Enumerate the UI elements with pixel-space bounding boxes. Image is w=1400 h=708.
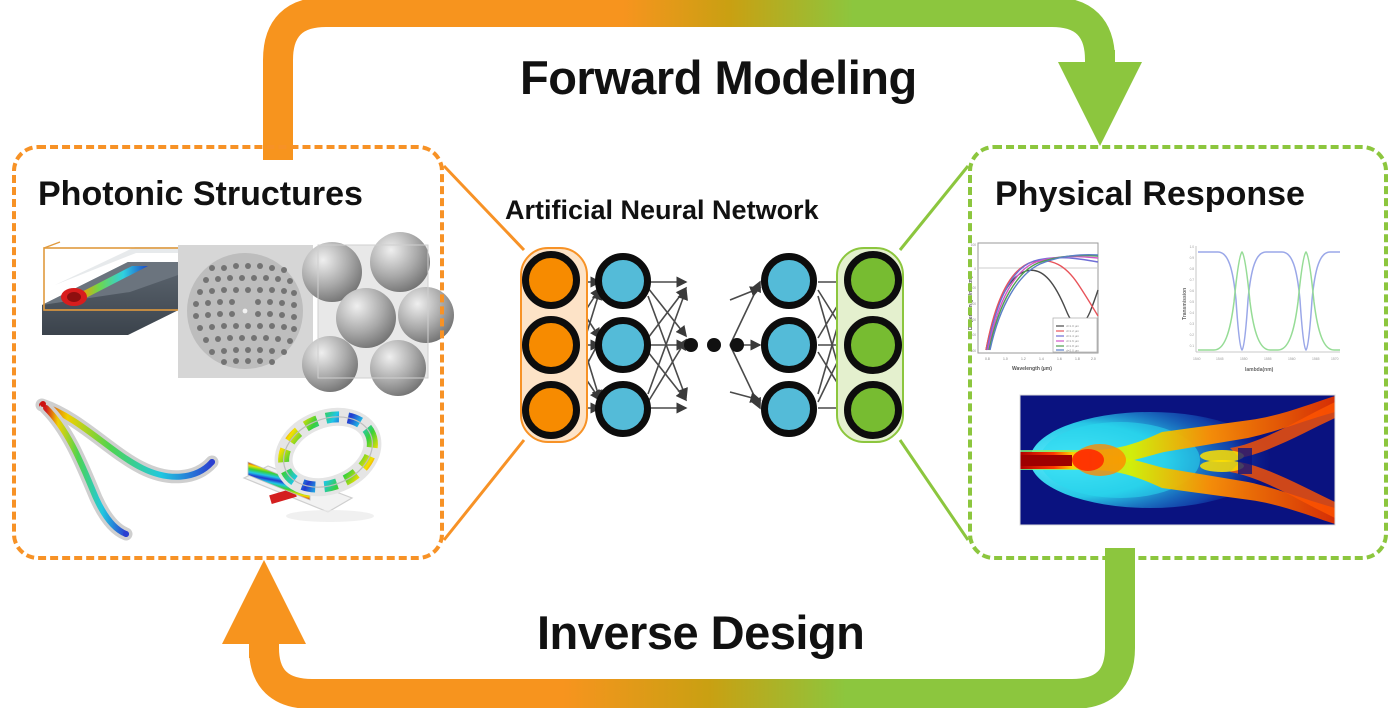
physical-response-title: Physical Response (995, 175, 1305, 214)
output-to-physical-connector (900, 166, 968, 540)
input-node-3[interactable] (522, 381, 580, 439)
input-node-1[interactable] (522, 251, 580, 309)
hidden1-node-2[interactable] (595, 317, 651, 373)
hidden1-node-1[interactable] (595, 253, 651, 309)
network-ellipsis (684, 330, 744, 360)
hidden2-node-1[interactable] (761, 253, 817, 309)
photonic-structures-title: Photonic Structures (38, 175, 363, 214)
hidden1-node-3[interactable] (595, 381, 651, 437)
ellipsis-dot-1 (684, 338, 698, 352)
input-node-2[interactable] (522, 316, 580, 374)
ellipsis-dot-3 (730, 338, 744, 352)
hidden2-node-2[interactable] (761, 317, 817, 373)
artificial-neural-network-label: Artificial Neural Network (505, 195, 819, 226)
forward-modeling-label: Forward Modeling (520, 50, 917, 105)
output-node-2[interactable] (844, 316, 902, 374)
inverse-design-label: Inverse Design (537, 605, 864, 660)
ellipsis-dot-2 (707, 338, 721, 352)
hidden2-node-3[interactable] (761, 381, 817, 437)
diagram-canvas: d=1.0 µmd=1.2 µm d=1.4 µmd=1.6 µm d=1.8 … (0, 0, 1400, 708)
output-node-3[interactable] (844, 381, 902, 439)
output-node-1[interactable] (844, 251, 902, 309)
